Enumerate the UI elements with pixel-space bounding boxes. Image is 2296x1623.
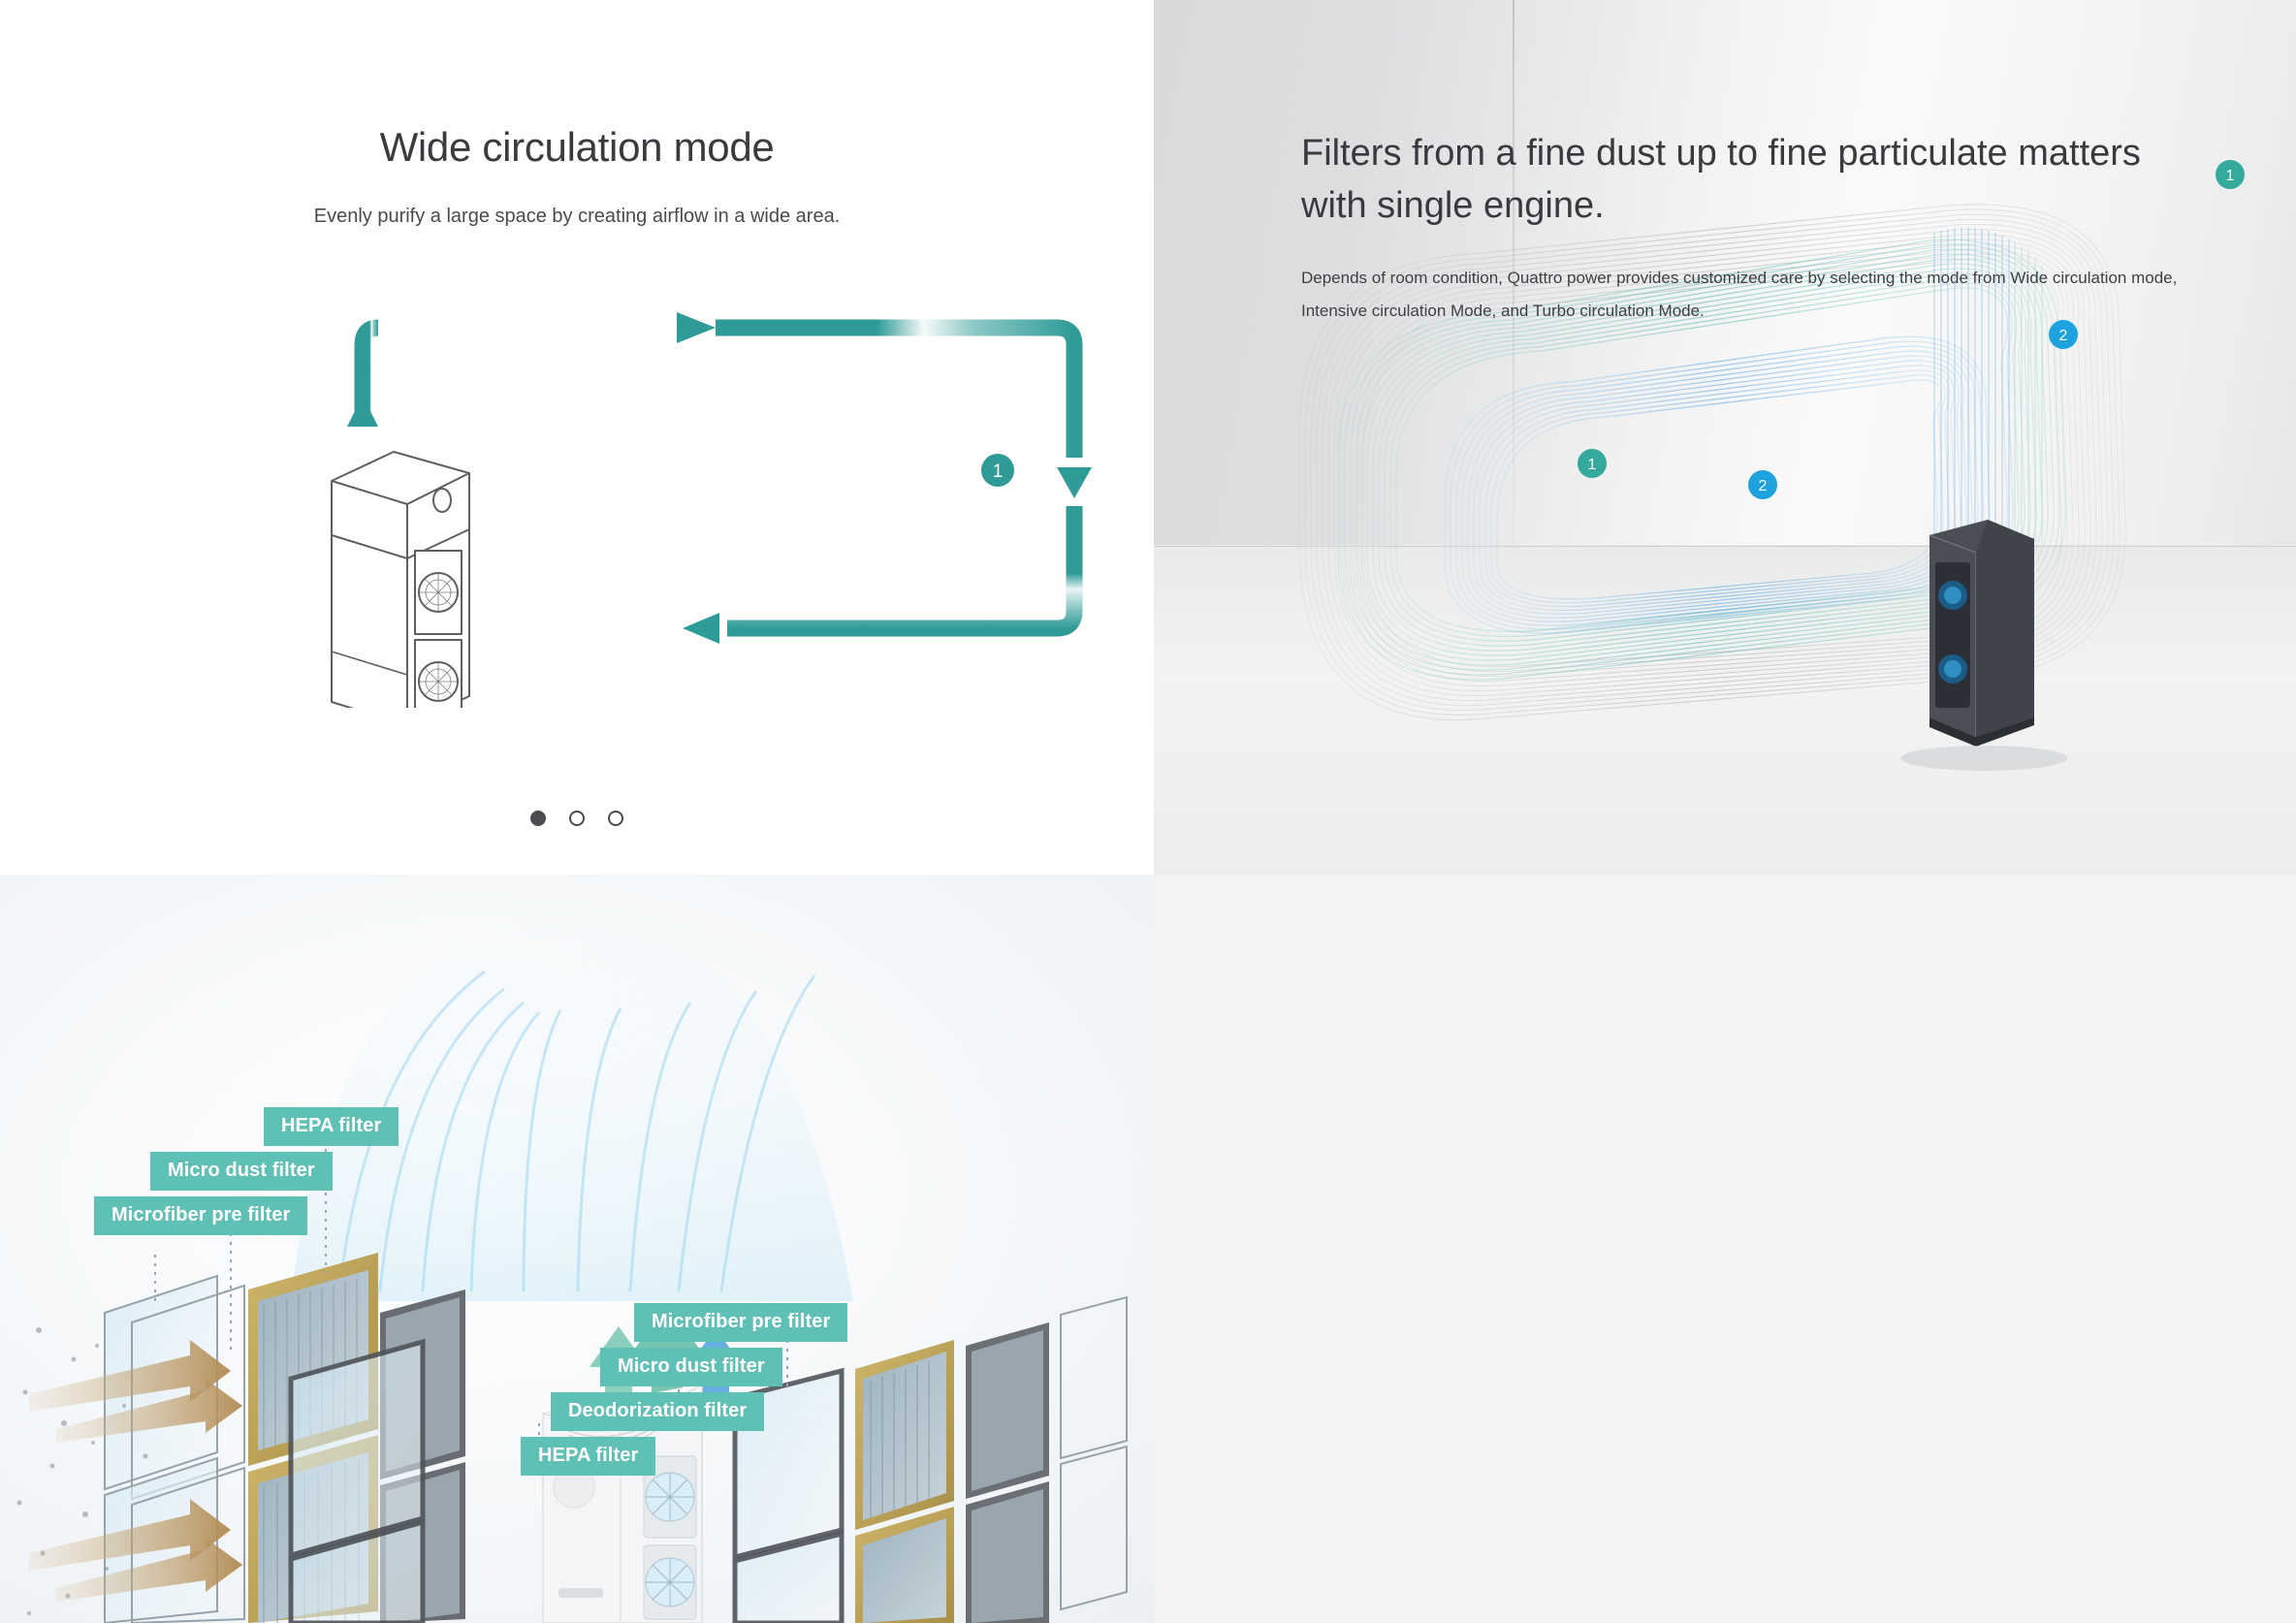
panel-wide-circulation: Wide circulation mode Evenly purify a la… bbox=[0, 0, 1154, 875]
wide-circulation-airflow-diagram: 1 bbox=[320, 291, 1096, 708]
panel-filters-single-engine: 1 2 1 2 Filters from a fine dust up to f… bbox=[1154, 0, 2296, 875]
panel-filter-exploded-diagram: HEPA filter Micro dust filter Microfiber… bbox=[0, 875, 1154, 1623]
filter-diagram-render bbox=[0, 875, 1154, 1623]
tag-hepa-filter-right: HEPA filter bbox=[521, 1437, 655, 1476]
svg-text:1: 1 bbox=[1588, 457, 1597, 473]
filters-title: Filters from a fine dust up to fine part… bbox=[1301, 128, 2193, 233]
pagination-dot-3[interactable] bbox=[608, 811, 623, 826]
svg-text:1: 1 bbox=[2226, 168, 2235, 184]
product-feature-page: Wide circulation mode Evenly purify a la… bbox=[0, 0, 2296, 1623]
tag-hepa-filter-left: HEPA filter bbox=[264, 1107, 399, 1146]
tag-micro-dust-filter-left: Micro dust filter bbox=[150, 1152, 333, 1191]
tag-microfiber-pre-filter-left: Microfiber pre filter bbox=[94, 1196, 307, 1235]
pagination-dot-2[interactable] bbox=[569, 811, 585, 826]
svg-text:2: 2 bbox=[2059, 328, 2068, 344]
airflow-loop-svg: 1 bbox=[320, 291, 1096, 708]
tag-micro-dust-filter-right: Micro dust filter bbox=[600, 1348, 782, 1386]
filters-body: Depends of room condition, Quattro power… bbox=[1301, 262, 2213, 328]
pagination-dot-1[interactable] bbox=[530, 811, 546, 826]
svg-text:1: 1 bbox=[993, 461, 1004, 482]
wide-circulation-subtitle: Evenly purify a large space by creating … bbox=[0, 206, 1154, 228]
svg-text:2: 2 bbox=[1759, 478, 1768, 494]
panel-powerful-filtration-system: Powerful filtration system 99.9% removal… bbox=[1154, 875, 2296, 1623]
tag-microfiber-pre-filter-right: Microfiber pre filter bbox=[634, 1303, 847, 1342]
wide-circulation-title: Wide circulation mode bbox=[0, 124, 1154, 171]
filter-stack-svg bbox=[0, 875, 1154, 1623]
tag-deodorization-filter-right: Deodorization filter bbox=[551, 1392, 764, 1431]
carousel-pagination[interactable] bbox=[0, 811, 1154, 826]
